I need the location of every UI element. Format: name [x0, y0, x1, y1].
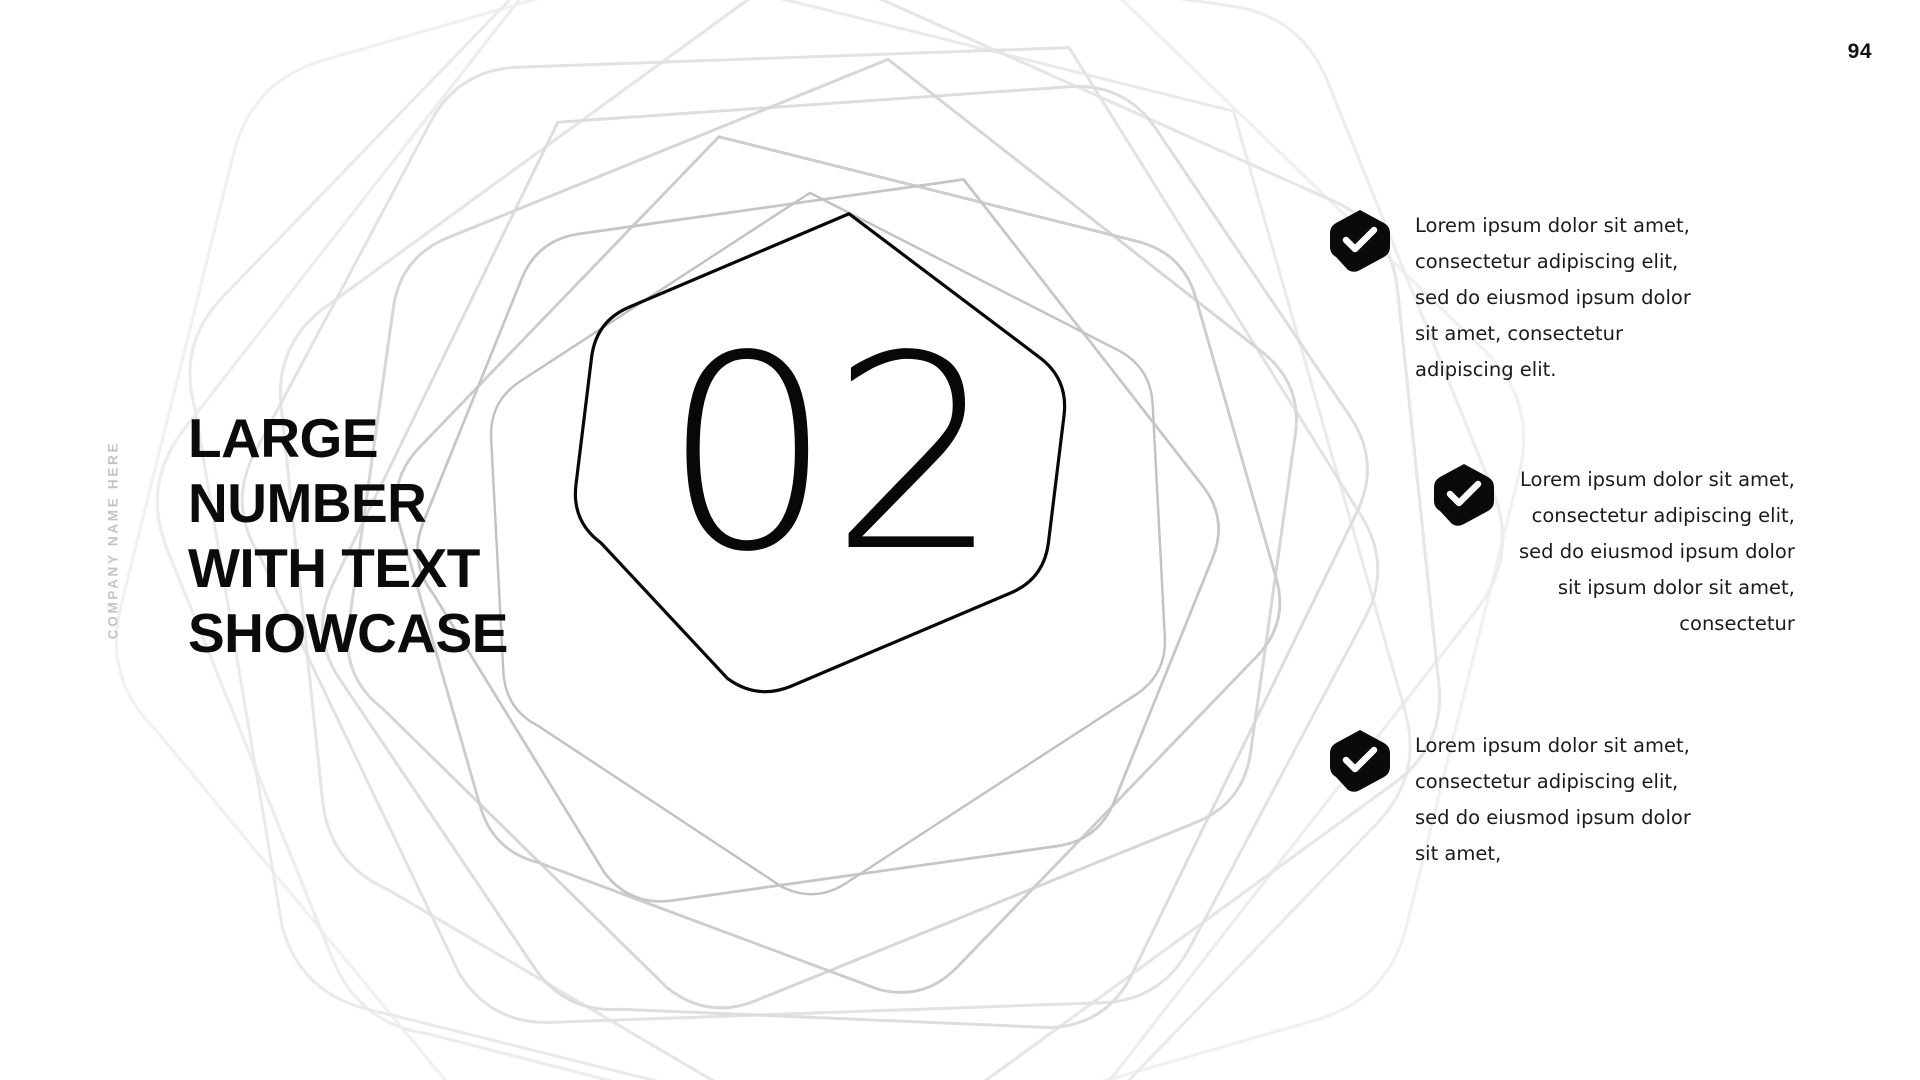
company-name-vertical-label: COMPANY NAME HERE [106, 441, 121, 639]
bullet-2-line-5: consectetur [1519, 606, 1795, 642]
bullet-3-line-3: sed do eiusmod ipsum dolor [1415, 800, 1691, 836]
list-item-text: Lorem ipsum dolor sit amet, consectetur … [1415, 208, 1691, 388]
list-item-text: Lorem ipsum dolor sit amet, consectetur … [1519, 462, 1795, 642]
bullet-3-line-1: Lorem ipsum dolor sit amet, [1415, 728, 1691, 764]
list-item-text: Lorem ipsum dolor sit amet, consectetur … [1415, 728, 1691, 872]
bullet-3-line-4: sit amet, [1415, 836, 1691, 872]
slide-canvas: COMPANY NAME HERE 94 LARGE NUMBER WITH T… [0, 0, 1920, 1080]
page-number: 94 [1848, 40, 1872, 64]
bullet-1-line-2: consectetur adipiscing elit, [1415, 244, 1691, 280]
list-item: Lorem ipsum dolor sit amet, consectetur … [1328, 728, 1691, 872]
list-item: Lorem ipsum dolor sit amet, consectetur … [1432, 462, 1795, 642]
bullet-1-line-3: sed do eiusmod ipsum dolor [1415, 280, 1691, 316]
bullet-2-line-4: sit ipsum dolor sit amet, [1519, 570, 1795, 606]
bullet-2-line-3: sed do eiusmod ipsum dolor [1519, 534, 1795, 570]
list-item: Lorem ipsum dolor sit amet, consectetur … [1328, 208, 1691, 388]
bullet-2-line-1: Lorem ipsum dolor sit amet, [1519, 462, 1795, 498]
bullet-1-line-1: Lorem ipsum dolor sit amet, [1415, 208, 1691, 244]
bullet-1-line-4: sit amet, consectetur [1415, 316, 1691, 352]
bullet-1-line-5: adipiscing elit. [1415, 352, 1691, 388]
bullet-3-line-2: consectetur adipiscing elit, [1415, 764, 1691, 800]
check-badge-icon [1328, 728, 1392, 792]
check-badge-icon [1432, 462, 1496, 526]
check-badge-icon [1328, 208, 1392, 272]
bullet-2-line-2: consectetur adipiscing elit, [1519, 498, 1795, 534]
large-number-display: 02 [540, 190, 1100, 710]
